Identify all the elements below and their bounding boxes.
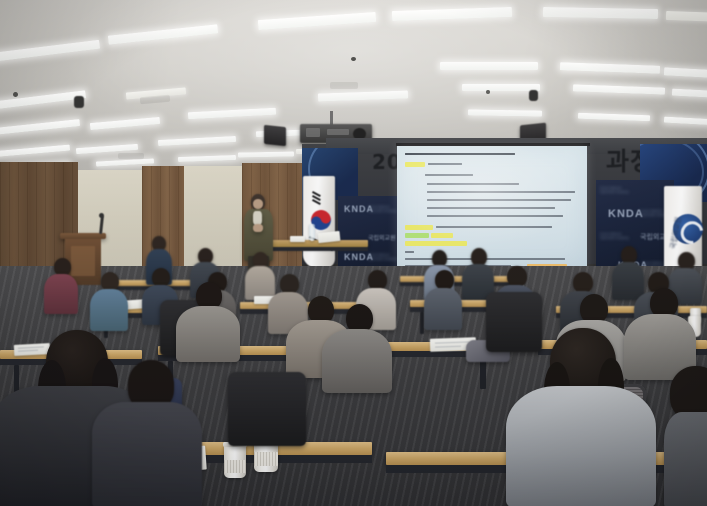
projector-vent <box>306 128 320 137</box>
attendee-foreground-left-2 <box>92 360 202 506</box>
ceiling-light <box>462 84 540 91</box>
slide-highlight <box>431 233 453 238</box>
projector-panel <box>327 129 349 135</box>
paper-text-line <box>435 346 461 348</box>
stage-document <box>290 236 305 242</box>
slide-highlight <box>405 233 429 238</box>
stage-table-edge <box>272 247 368 251</box>
slide-highlight <box>405 162 425 167</box>
ceiling-vent <box>118 153 144 159</box>
ceiling-sensor <box>486 90 490 94</box>
slide-text-line <box>427 207 555 209</box>
ceiling-vent <box>330 82 358 89</box>
chair-backrest <box>228 372 306 446</box>
ceiling-speaker <box>74 96 84 108</box>
banner-right-org-en-2: Korea National Diplomatic Academy <box>600 232 632 240</box>
slide-text-line <box>427 215 563 217</box>
attendee <box>90 272 128 330</box>
attendee-torso <box>506 386 656 506</box>
presenter-shirt <box>253 211 262 225</box>
ceiling-light <box>468 109 542 116</box>
attendee-foreground-right <box>506 328 656 506</box>
banner-right-acronym: KNDA <box>608 208 644 220</box>
attendee-head <box>368 270 387 290</box>
slide-title-line <box>405 153 515 155</box>
cup-sleeve <box>224 460 246 473</box>
attendee-torso <box>90 289 128 331</box>
attendee-torso <box>176 306 240 362</box>
ceiling-light <box>440 62 538 70</box>
microphone-head <box>99 213 104 218</box>
attendee <box>322 304 392 390</box>
wall-speaker <box>264 125 286 146</box>
slide-text-line <box>427 191 575 193</box>
cup-sleeve <box>254 452 278 466</box>
attendee <box>462 248 494 298</box>
slide-text-line <box>428 163 462 165</box>
attendee-head <box>435 270 454 290</box>
attendee <box>44 258 78 312</box>
attendee-torso <box>322 329 392 393</box>
presenter-face <box>253 199 263 209</box>
slide-text-line <box>405 251 414 253</box>
banner-left-org-kr: 국립외교원 <box>368 233 396 242</box>
paper-text-line <box>435 341 469 343</box>
projector-mount-pole <box>330 111 333 125</box>
office-chair-midleft <box>228 372 306 446</box>
ceiling-sensor <box>13 92 18 97</box>
water-bottle <box>309 224 315 241</box>
attendee <box>176 282 240 358</box>
slide-highlight <box>405 241 467 246</box>
banner-right-org-en-top: Korea National Diplomatic Academy <box>600 186 632 194</box>
attendee <box>424 270 462 328</box>
presenter-hands <box>253 224 263 232</box>
ceiling-light <box>543 7 658 19</box>
slide-text-line <box>427 199 571 201</box>
slide-text-line <box>425 174 473 176</box>
attendee-head <box>280 274 299 294</box>
slide-highlight <box>405 225 433 230</box>
paper-cup-foreground <box>224 444 246 478</box>
attendee-torso <box>92 402 202 506</box>
attendee-torso <box>664 412 707 506</box>
slide-text-line <box>427 183 519 185</box>
ceiling-sensor <box>351 57 356 61</box>
slide-text-line <box>436 226 552 228</box>
lecture-hall-photo: 20 과정 KNDA Korea National Diplomatic Aca… <box>0 0 707 506</box>
attendee-torso <box>424 288 462 330</box>
ceiling-light <box>238 152 294 158</box>
attendee-head <box>507 266 527 287</box>
attendee-foreground-far-right <box>664 366 707 506</box>
attendee-head <box>573 272 593 293</box>
ceiling-speaker <box>529 90 538 101</box>
attendee-torso <box>44 274 78 314</box>
